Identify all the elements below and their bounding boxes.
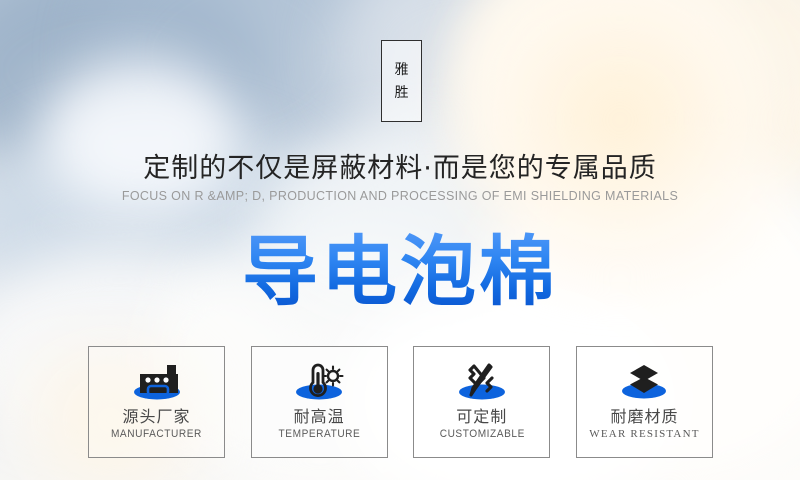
feature-label-cn: 耐磨材质 [610, 408, 678, 426]
banner-content: 雅 胜 定制的不仅是屏蔽材料·而是您的专属品质 FOCUS ON R &AMP;… [0, 0, 800, 480]
crossed-tools-icon [451, 359, 513, 403]
feature-label-cn: 耐高温 [294, 408, 345, 426]
feature-card-manufacturer[interactable]: 源头厂家 MANUFACTURER [88, 346, 225, 458]
feature-label-en: MANUFACTURER [111, 428, 202, 441]
feature-label-en: TEMPERATURE [278, 428, 360, 441]
tagline: 定制的不仅是屏蔽材料·而是您的专属品质 [0, 146, 800, 185]
feature-label-cn: 可定制 [456, 408, 507, 426]
feature-label-cn: 源头厂家 [122, 408, 190, 426]
subtitle: FOCUS ON R &AMP; D, PRODUCTION AND PROCE… [0, 189, 800, 203]
factory-icon [126, 359, 188, 403]
hero-banner: 雅 胜 定制的不仅是屏蔽材料·而是您的专属品质 FOCUS ON R &AMP;… [0, 0, 800, 480]
feature-label-en: CUSTOMIZABLE [439, 428, 524, 441]
logo-char-top: 雅 [395, 63, 409, 77]
feature-card-temperature[interactable]: 耐高温 TEMPERATURE [251, 346, 388, 458]
feature-card-wear-resistant[interactable]: 耐磨材质 WEAR RESISTANT [576, 346, 713, 458]
brand-logo: 雅 胜 [381, 40, 422, 122]
stacked-layers-icon [613, 359, 675, 403]
page-title: 导电泡棉 [0, 231, 800, 313]
feature-label-en: WEAR RESISTANT [589, 428, 699, 441]
feature-card-customizable[interactable]: 可定制 CUSTOMIZABLE [413, 346, 550, 458]
logo-char-bottom: 胜 [395, 86, 409, 100]
feature-card-list: 源头厂家 MANUFACTURER [88, 346, 713, 458]
thermometer-sun-icon [288, 359, 350, 403]
